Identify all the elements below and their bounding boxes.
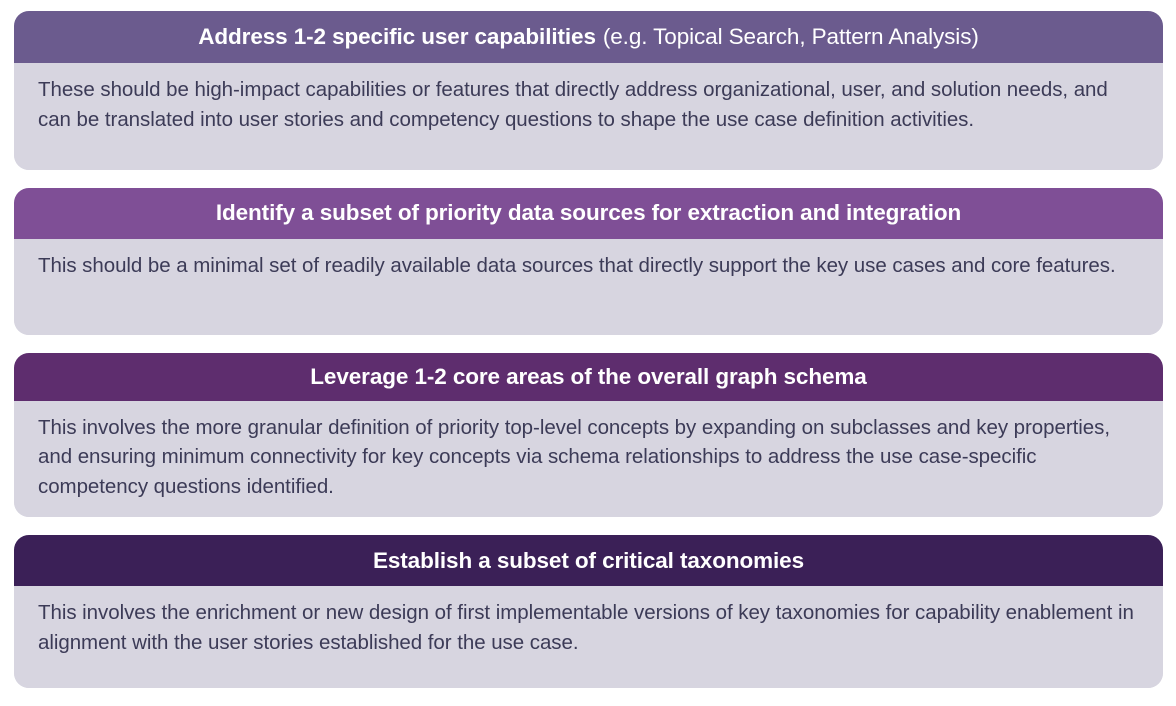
card-body-identify-priority-data-sources: This should be a minimal set of readily … <box>14 239 1163 335</box>
card-header-leverage-core-graph-schema: Leverage 1-2 core areas of the overall g… <box>14 353 1163 401</box>
card-establish-critical-taxonomies: Establish a subset of critical taxonomie… <box>14 535 1163 688</box>
card-body-establish-critical-taxonomies: This involves the enrichment or new desi… <box>14 586 1163 688</box>
card-body-text: This involves the enrichment or new desi… <box>38 598 1139 657</box>
card-header-identify-priority-data-sources: Identify a subset of priority data sourc… <box>14 188 1163 239</box>
card-title-strong: Leverage 1-2 core areas of the overall g… <box>310 364 866 390</box>
card-body-text: These should be high-impact capabilities… <box>38 75 1139 134</box>
card-title-strong: Identify a subset of priority data sourc… <box>216 200 961 226</box>
card-title-strong: Establish a subset of critical taxonomie… <box>373 548 804 574</box>
card-body-leverage-core-graph-schema: This involves the more granular definiti… <box>14 401 1163 518</box>
card-body-text: This should be a minimal set of readily … <box>38 251 1139 281</box>
card-header-address-user-capabilities: Address 1-2 specific user capabilities(e… <box>14 11 1163 63</box>
card-title-strong: Address 1-2 specific user capabilities <box>198 24 596 50</box>
card-header-establish-critical-taxonomies: Establish a subset of critical taxonomie… <box>14 535 1163 586</box>
card-stack: Address 1-2 specific user capabilities(e… <box>0 0 1176 706</box>
card-address-user-capabilities: Address 1-2 specific user capabilities(e… <box>14 11 1163 170</box>
card-title-light: (e.g. Topical Search, Pattern Analysis) <box>603 24 979 50</box>
card-body-address-user-capabilities: These should be high-impact capabilities… <box>14 63 1163 170</box>
card-leverage-core-graph-schema: Leverage 1-2 core areas of the overall g… <box>14 353 1163 518</box>
card-identify-priority-data-sources: Identify a subset of priority data sourc… <box>14 188 1163 335</box>
card-body-text: This involves the more granular definiti… <box>38 413 1139 502</box>
